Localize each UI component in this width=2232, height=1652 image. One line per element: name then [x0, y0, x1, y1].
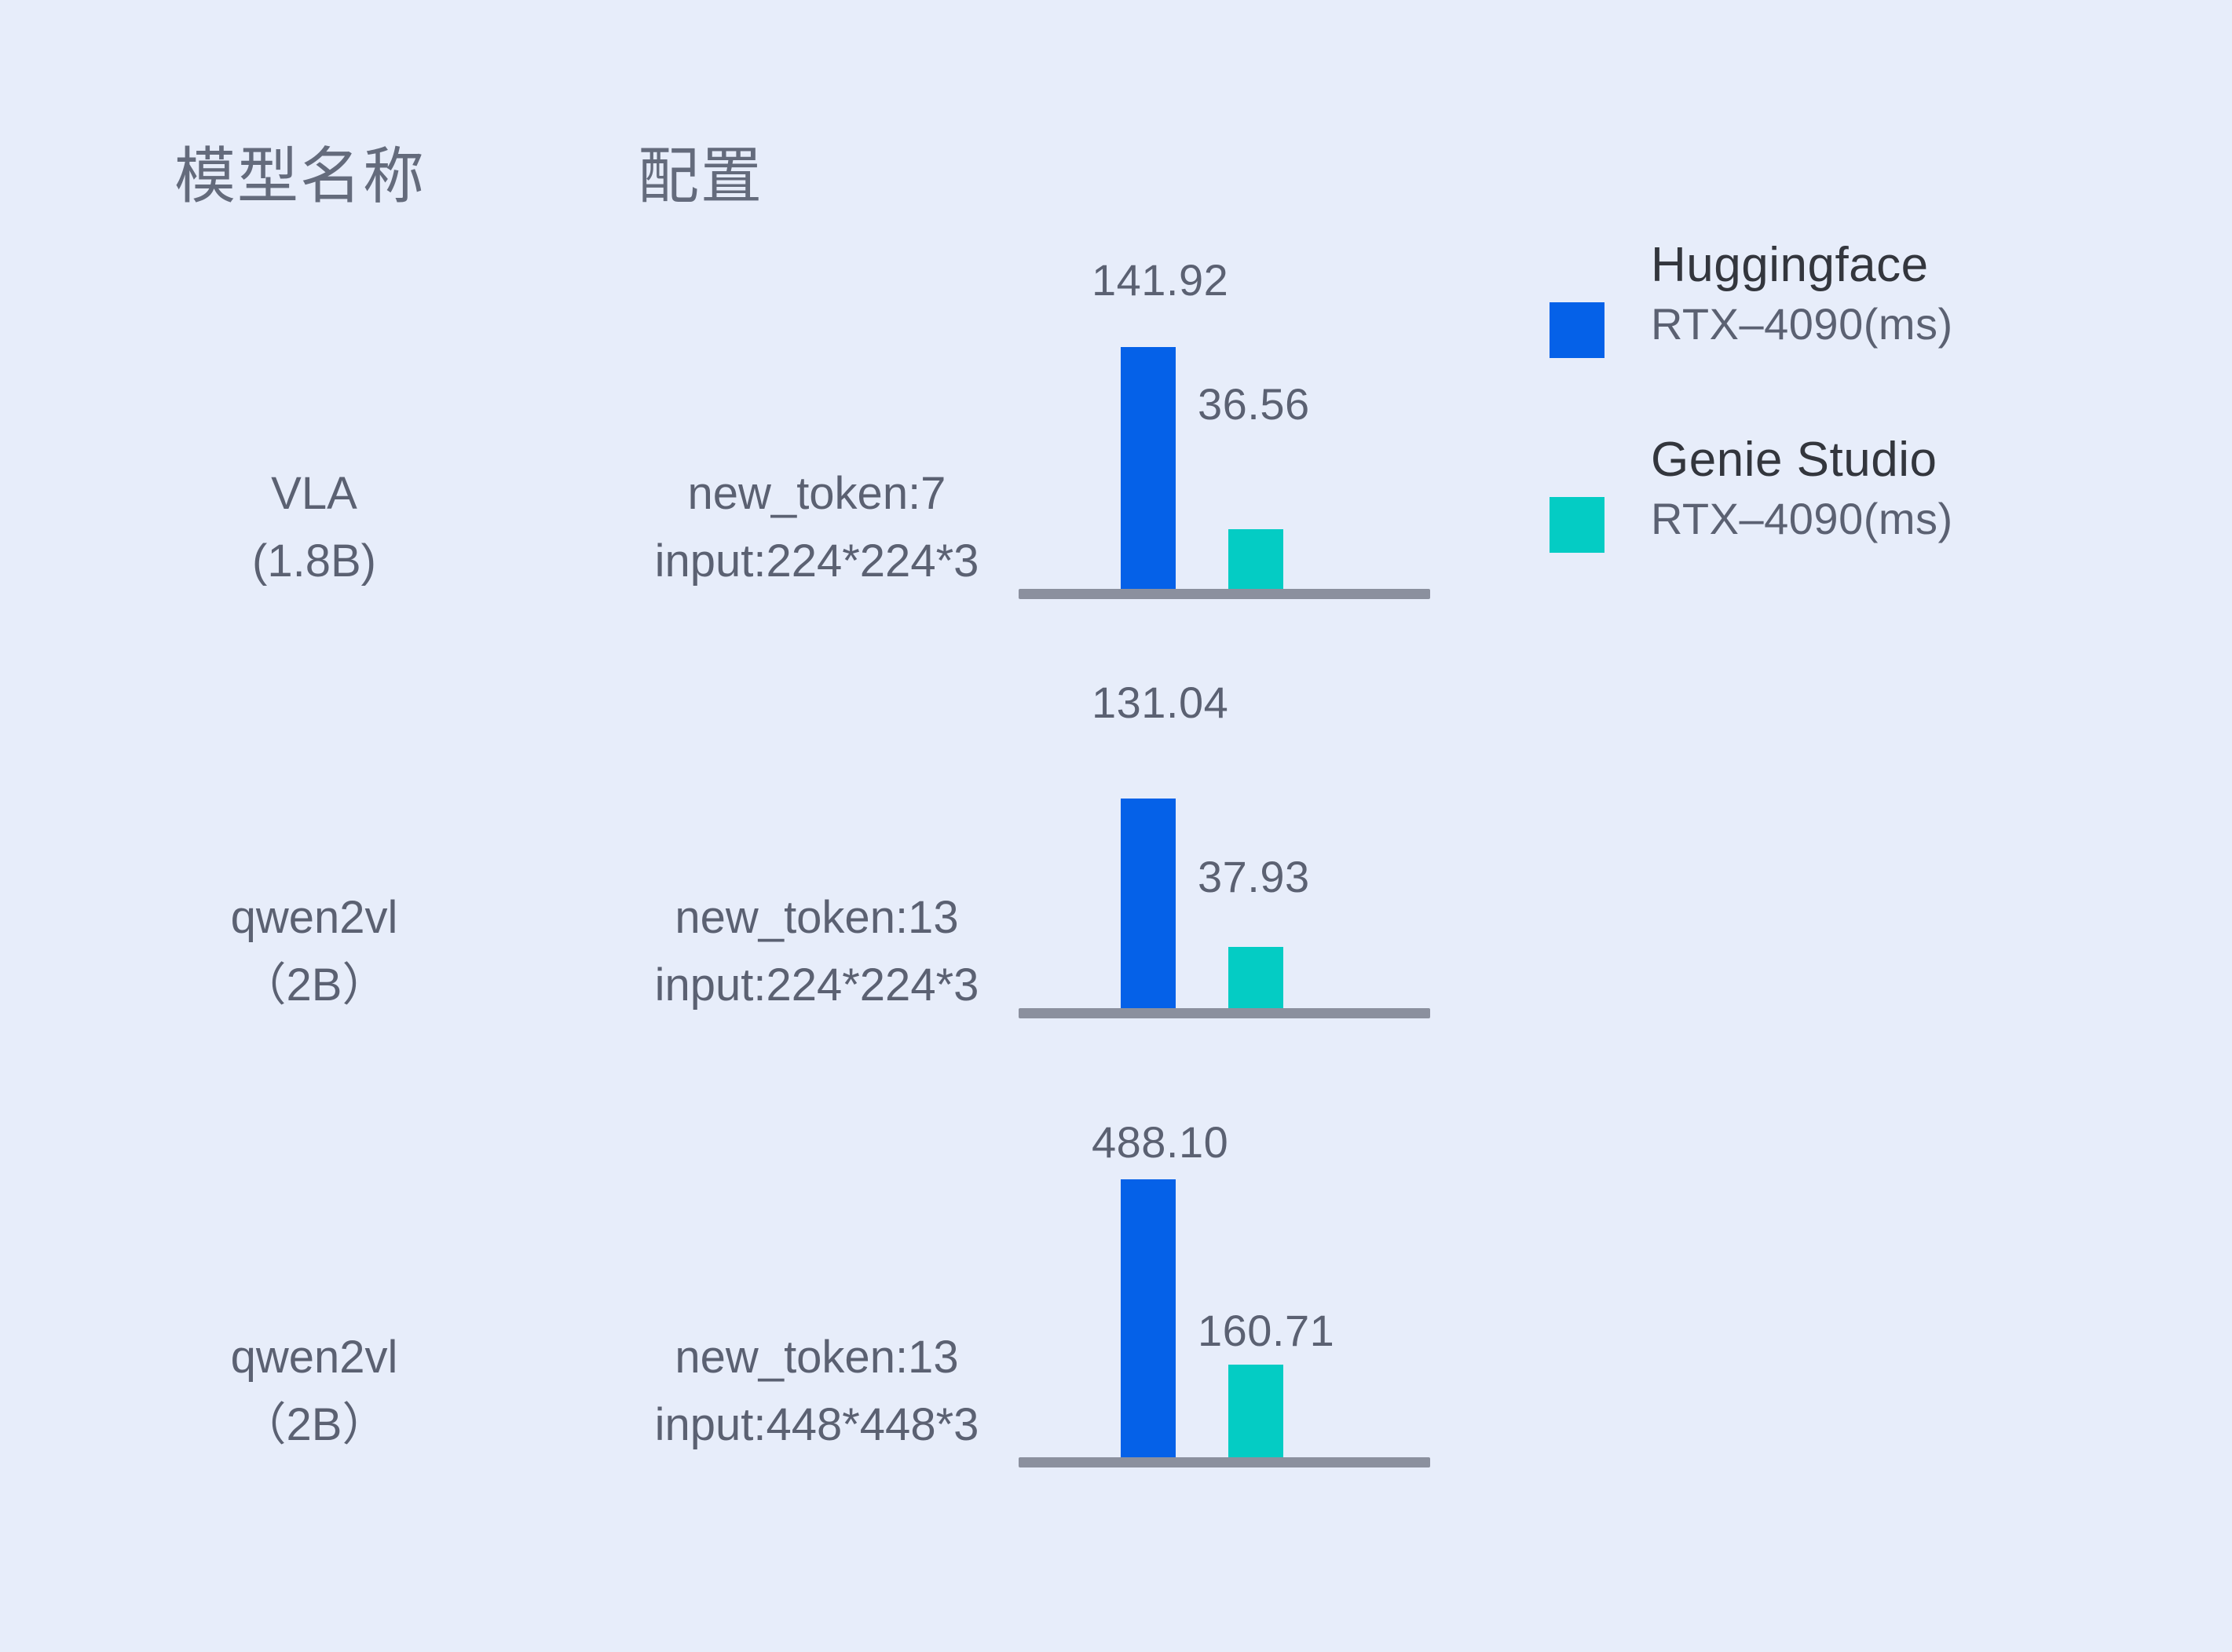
row-model-name: qwen2vl [134, 1324, 495, 1391]
genie-studio-swatch [1550, 497, 1604, 553]
bar-value-label-primary: 131.04 [1092, 677, 1228, 728]
column-header-model-name: 模型名称 [174, 127, 426, 215]
bar-genie-studio[interactable] [1228, 1365, 1283, 1457]
legend-item-huggingface[interactable]: Huggingface RTX–4090(ms) [1543, 236, 2172, 393]
bar-genie-studio[interactable] [1228, 947, 1283, 1008]
legend-subtitle: RTX–4090(ms) [1651, 295, 2169, 353]
row-model-cell: qwen2vl （2B） [134, 884, 495, 1019]
row-model-name: VLA [134, 460, 495, 528]
legend-text: Genie Studio RTX–4090(ms) [1651, 430, 2169, 548]
bar-value-label-secondary: 37.93 [1198, 851, 1310, 902]
huggingface-swatch [1550, 302, 1604, 358]
row-baseline [1019, 589, 1430, 599]
legend-title: Huggingface [1651, 236, 2169, 295]
row-model-cell: VLA (1.8B) [134, 460, 495, 595]
row-baseline [1019, 1008, 1430, 1018]
legend-title: Genie Studio [1651, 430, 2169, 490]
legend-text: Huggingface RTX–4090(ms) [1651, 236, 2169, 353]
row-baseline [1019, 1457, 1430, 1467]
row-model-size: (1.8B) [134, 528, 495, 595]
bar-value-label-primary: 488.10 [1092, 1117, 1228, 1168]
legend-item-genie-studio[interactable]: Genie Studio RTX–4090(ms) [1543, 430, 2172, 587]
bar-genie-studio[interactable] [1228, 529, 1283, 589]
row-model-name: qwen2vl [134, 884, 495, 952]
row-model-size: （2B） [134, 952, 495, 1019]
bar-value-label-primary: 141.92 [1092, 254, 1228, 305]
row-bar-plot: 141.92 36.56 [1019, 236, 1430, 605]
row-bar-plot: 131.04 37.93 [1019, 655, 1430, 1024]
column-header-config: 配置 [638, 127, 763, 215]
row-model-size: （2B） [134, 1391, 495, 1459]
bar-huggingface[interactable] [1121, 347, 1176, 589]
row-bar-plot: 488.10 160.71 [1019, 1099, 1430, 1475]
legend-subtitle: RTX–4090(ms) [1651, 490, 2169, 548]
row-model-cell: qwen2vl （2B） [134, 1324, 495, 1459]
bar-huggingface[interactable] [1121, 1179, 1176, 1462]
chart-canvas: 模型名称 配置 VLA (1.8B) new_token:7 input:224… [0, 0, 2232, 1652]
bar-value-label-secondary: 160.71 [1198, 1305, 1334, 1356]
bar-value-label-secondary: 36.56 [1198, 378, 1310, 429]
bar-huggingface[interactable] [1121, 799, 1176, 1008]
